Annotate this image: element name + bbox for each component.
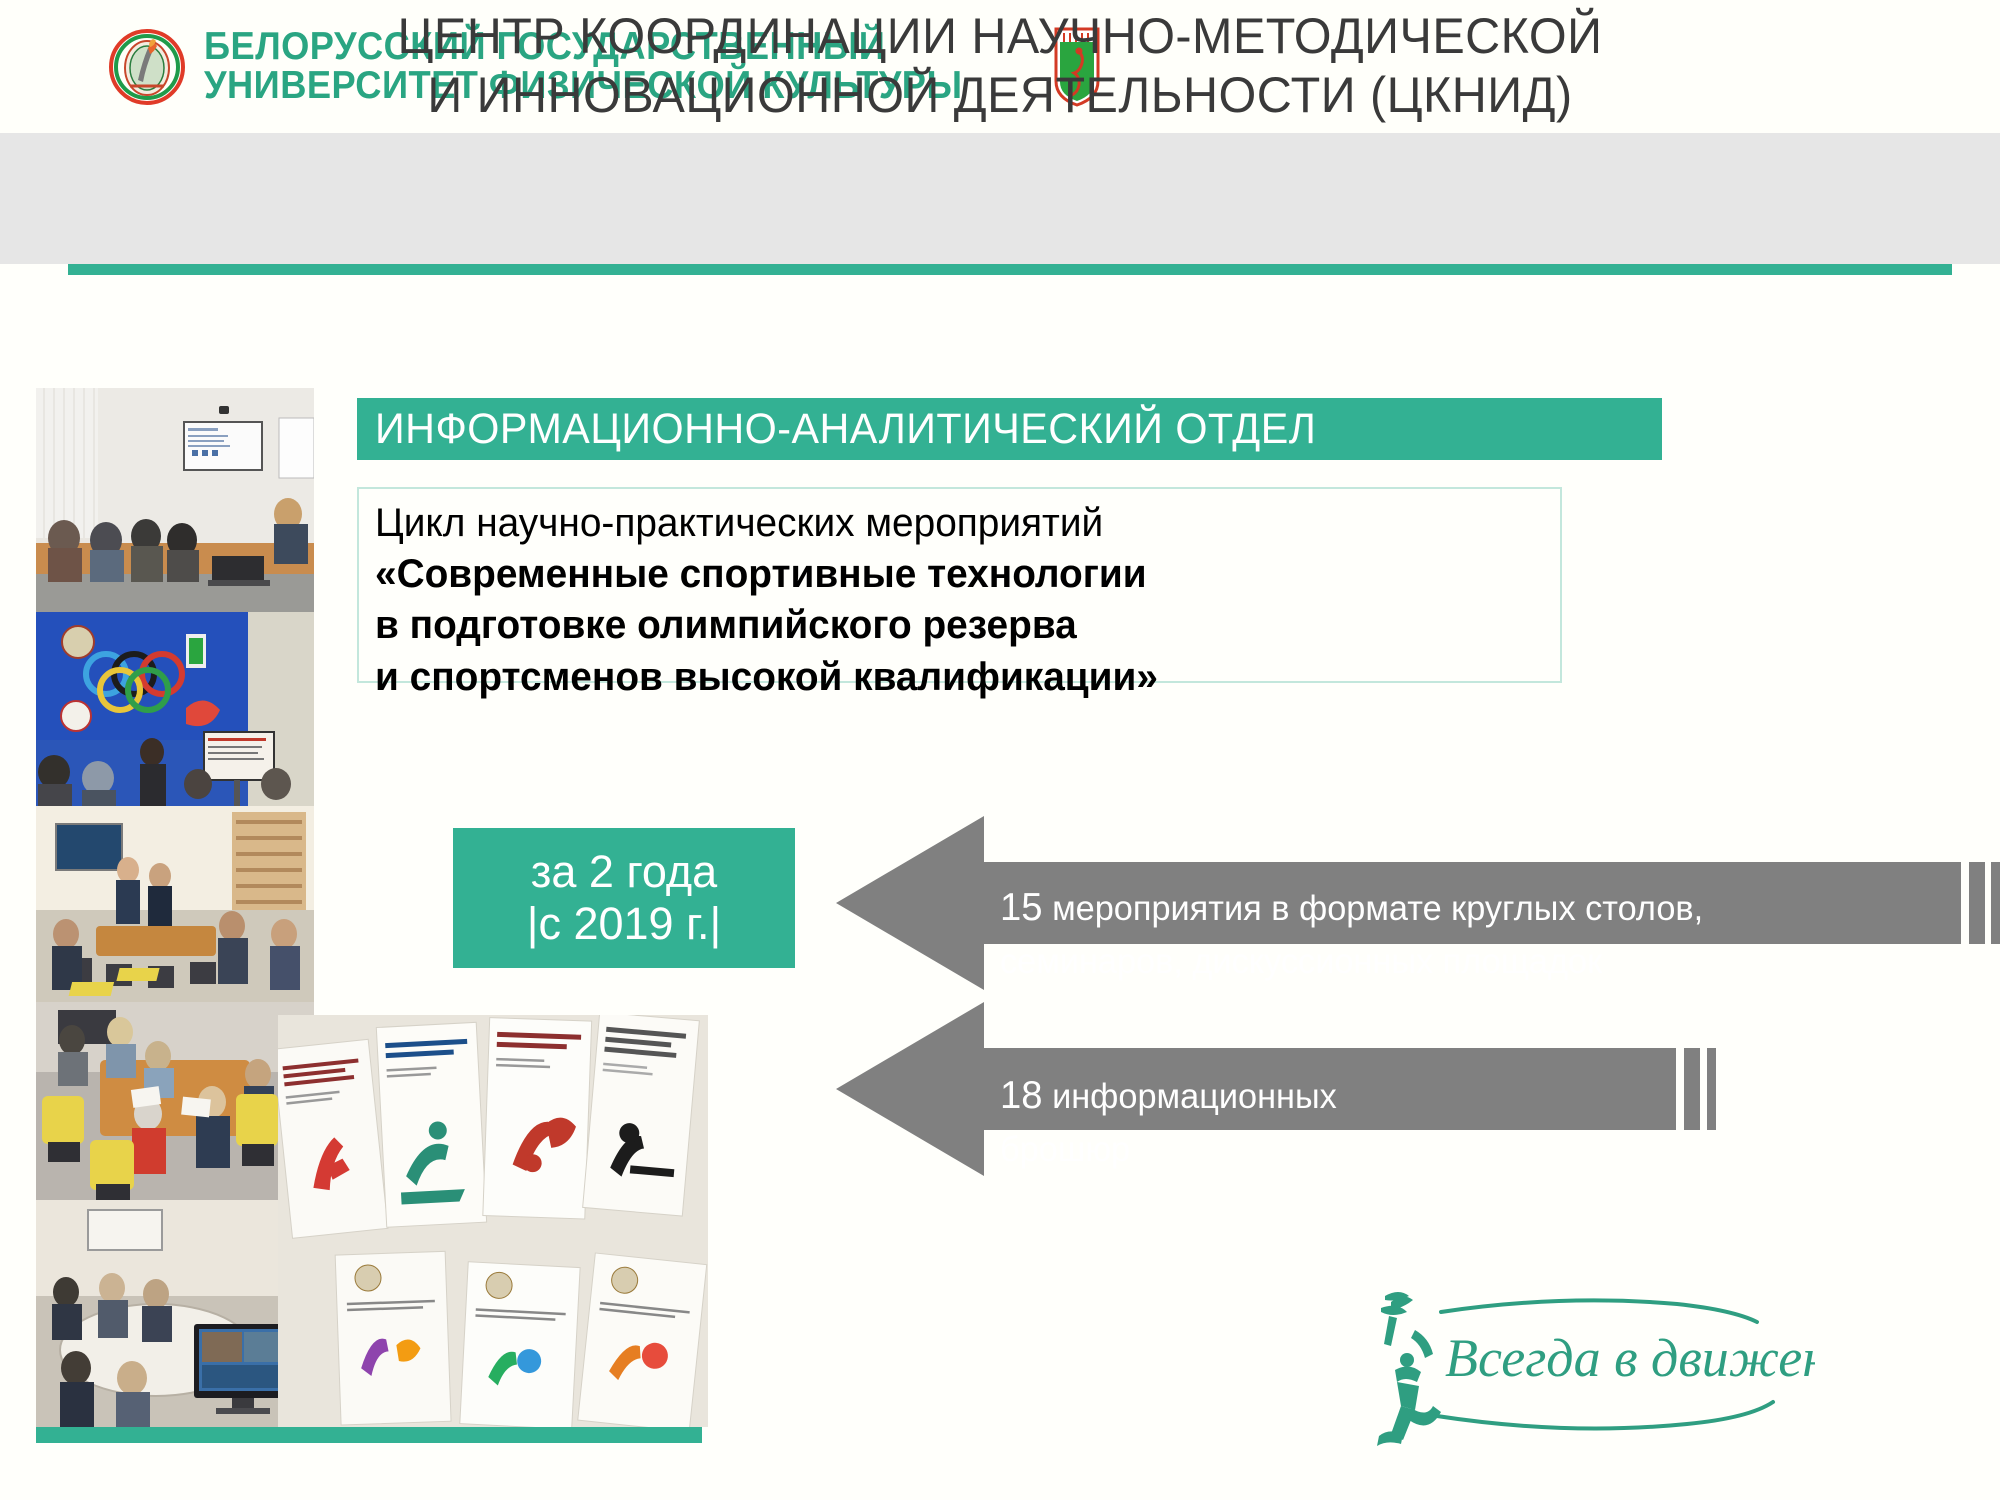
page-title: ЦЕНТР КООРДИНАЦИИ НАУЧНО-МЕТОДИЧЕСКОЙ И … xyxy=(30,0,1970,131)
stat-brochures-text: 18 информационных брошюр xyxy=(1000,1068,1549,1175)
event-series-line2: «Современные спортивные технологии xyxy=(375,549,1520,600)
stat-brochures-line1: информационных xyxy=(1052,1077,1337,1116)
section-heading-text: ИНФОРМАЦИОННО-АНАЛИТИЧЕСКИЙ ОТДЕЛ xyxy=(375,405,1316,454)
period-line1: за 2 года xyxy=(531,846,717,898)
event-series-line3: в подготовке олимпийского резерва xyxy=(375,600,1520,651)
photo-brochures-spread xyxy=(278,1015,708,1427)
stat-events-text: 15 мероприятия в формате круглых столов,… xyxy=(1000,880,1774,987)
slide-root: БЕЛОРУССКИЙ ГОСУДАРСТВЕННЫЙ УНИВЕРСИТЕТ … xyxy=(0,0,2000,1500)
stat-events-number: 15 xyxy=(1000,886,1043,929)
event-series-line1: Цикл научно-практических мероприятий xyxy=(375,498,1520,549)
photo-gym-roundtable xyxy=(36,806,314,1002)
stat-brochures-line2: брошюр xyxy=(1000,1125,1549,1176)
photo-olympic-rings-lecture xyxy=(36,612,314,806)
photo-discussion-table xyxy=(36,1002,314,1200)
slogan-text: Всегда в движении... xyxy=(1445,1328,1815,1388)
photo-classroom-presentation xyxy=(36,388,314,612)
torch-runner-icon xyxy=(1377,1292,1441,1446)
event-series-line4: и спортсменов высокой квалификации» xyxy=(375,652,1520,703)
stat-events-line2: семинаров, дискуссионных площадок xyxy=(1000,937,1774,988)
slogan-logo: Всегда в движении... xyxy=(1345,1290,1815,1450)
title-underline-rule xyxy=(68,264,1952,275)
page-title-line2: И ИННОВАЦИОННОЙ ДЕЯТЕЛЬНОСТИ (ЦКНИД) xyxy=(427,66,1572,125)
photo-collage-underline xyxy=(36,1427,702,1443)
event-series-text: Цикл научно-практических мероприятий «Со… xyxy=(375,498,1555,703)
photo-collage-column xyxy=(36,388,314,1427)
page-title-line1: ЦЕНТР КООРДИНАЦИИ НАУЧНО-МЕТОДИЧЕСКОЙ xyxy=(398,7,1603,66)
title-band xyxy=(0,133,2000,264)
photo-video-conference xyxy=(36,1200,314,1427)
period-badge: за 2 года |с 2019 г.| xyxy=(453,828,795,968)
stat-brochures-number: 18 xyxy=(1000,1074,1043,1117)
stat-events-line1: мероприятия в формате круглых столов, xyxy=(1052,889,1703,928)
section-heading-banner: ИНФОРМАЦИОННО-АНАЛИТИЧЕСКИЙ ОТДЕЛ xyxy=(357,398,1662,460)
period-line2: |с 2019 г.| xyxy=(527,898,721,950)
